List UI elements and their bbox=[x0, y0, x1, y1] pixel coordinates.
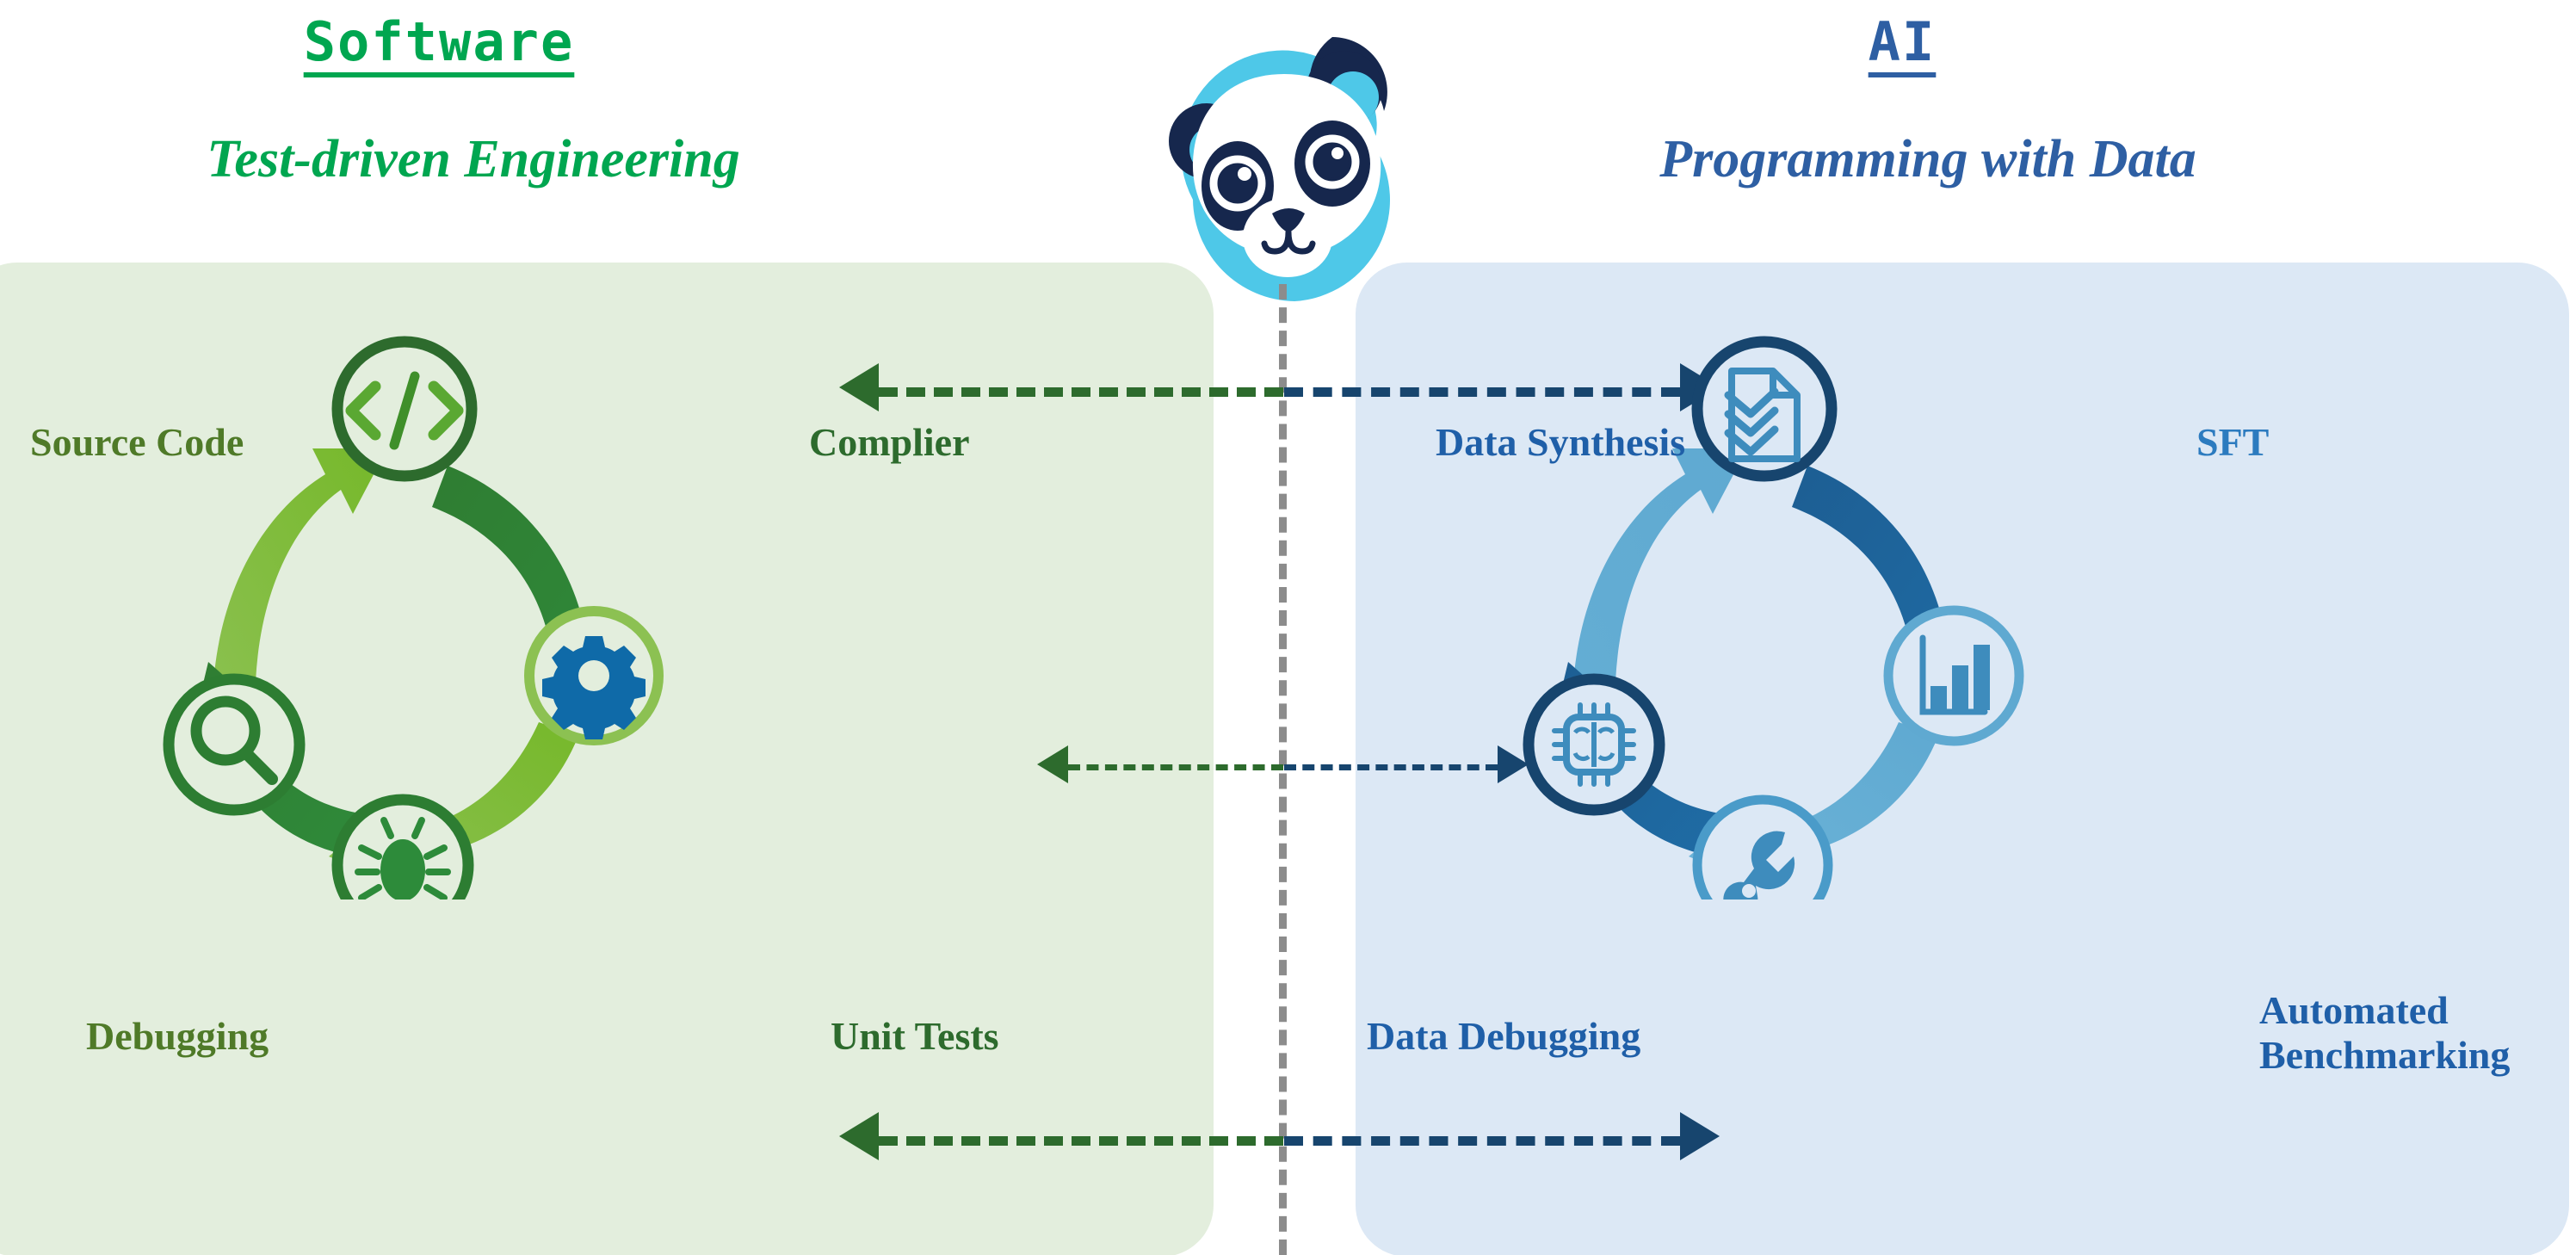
label-sft: SFT bbox=[2196, 420, 2269, 465]
label-automated-benchmarking-line2: Benchmarking bbox=[2259, 1033, 2510, 1078]
software-cycle-graphic bbox=[103, 297, 706, 900]
diagram-canvas: Software Test-driven Engineering AI Prog… bbox=[0, 0, 2576, 1255]
bottom-right-arrowhead-icon bbox=[1680, 1112, 1720, 1160]
label-source-code: Source Code bbox=[30, 420, 244, 465]
node-wrench[interactable] bbox=[1697, 800, 1828, 900]
label-data-synthesis: Data Synthesis bbox=[1436, 420, 1685, 465]
label-data-debugging: Data Debugging bbox=[1367, 1014, 1640, 1059]
middle-left-arrowhead-icon bbox=[1037, 745, 1068, 783]
ai-cycle-graphic bbox=[1463, 297, 2066, 900]
top-green-dash-line bbox=[879, 387, 1283, 397]
bottom-green-dash-line bbox=[879, 1136, 1283, 1146]
node-document[interactable] bbox=[1697, 342, 1832, 476]
node-bug[interactable] bbox=[337, 800, 468, 900]
panda-logo-icon bbox=[1115, 7, 1451, 317]
label-unit-tests: Unit Tests bbox=[831, 1014, 999, 1059]
node-chip[interactable] bbox=[1529, 679, 1659, 810]
gear-icon bbox=[542, 636, 646, 739]
middle-green-dash-line bbox=[1068, 764, 1283, 770]
ai-subtitle: Programming with Data bbox=[1584, 129, 2272, 190]
node-barchart[interactable] bbox=[1888, 610, 2019, 741]
label-automated-benchmarking-line1: Automated bbox=[2259, 988, 2510, 1033]
ai-title: AI bbox=[1807, 10, 1997, 73]
label-debugging: Debugging bbox=[86, 1014, 269, 1059]
label-automated-benchmarking: Automated Benchmarking bbox=[2259, 988, 2510, 1077]
software-subtitle: Test-driven Engineering bbox=[155, 129, 792, 190]
bottom-left-arrowhead-icon bbox=[839, 1112, 879, 1160]
top-left-arrowhead-icon bbox=[839, 363, 879, 411]
node-code[interactable] bbox=[337, 342, 472, 476]
node-gear[interactable] bbox=[529, 611, 658, 740]
software-title: Software bbox=[258, 10, 620, 73]
node-magnifier[interactable] bbox=[169, 679, 300, 810]
label-complier: Complier bbox=[809, 420, 970, 465]
bottom-blue-dash-line bbox=[1284, 1136, 1680, 1146]
